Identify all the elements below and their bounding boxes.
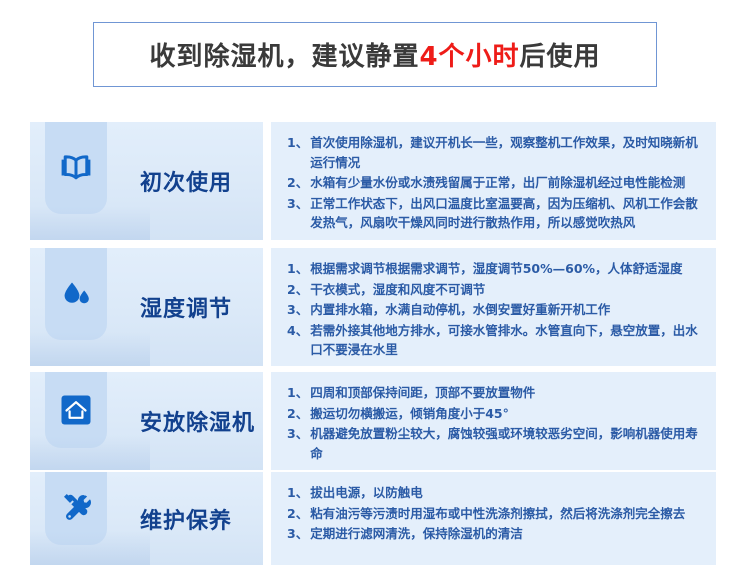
list-item-number: 3、 bbox=[287, 300, 308, 320]
card-gap bbox=[263, 472, 271, 565]
section-title: 维护保养 bbox=[140, 503, 232, 535]
list-item: 1、 拔出电源，以防触电 bbox=[287, 483, 704, 503]
list-item-number: 1、 bbox=[287, 133, 308, 153]
section-body-card: 1、 根据需求调节根据需求调节，湿度调节50%—60%，人体舒适湿度 2、 干衣… bbox=[271, 248, 716, 366]
list-item-number: 2、 bbox=[287, 173, 308, 193]
list-item-number: 1、 bbox=[287, 483, 308, 503]
list-item: 2、 搬运切勿横搬运，倾销角度小于45° bbox=[287, 404, 704, 424]
list-item-text: 四周和顶部保持间距，顶部不要放置物件 bbox=[310, 383, 704, 403]
icon-badge bbox=[45, 372, 107, 448]
list-item-text: 若需外接其他地方排水，可接水管排水。水管直向下，悬空放置，出水口不要浸在水里 bbox=[310, 321, 704, 360]
header-text-after: 后使用 bbox=[520, 42, 601, 72]
header-banner: 收到除湿机，建议静置4个小时后使用 bbox=[93, 22, 657, 87]
list-item-number: 2、 bbox=[287, 504, 308, 524]
list-item: 3、 机器避免放置粉尘较大，腐蚀较强或环境较恶劣空间，影响机器使用寿命 bbox=[287, 424, 704, 463]
list-item-number: 1、 bbox=[287, 259, 308, 279]
section-row-first-use: 初次使用 1、 首次使用除湿机，建议开机长一些，观察整机工作效果，及时知晓新机运… bbox=[30, 122, 716, 240]
list-item: 3、 定期进行滤网清洗，保持除湿机的清洁 bbox=[287, 524, 704, 544]
list-item: 2、 粘有油污等污渍时用湿布或中性洗涤剂擦拭，然后将洗涤剂完全擦去 bbox=[287, 504, 704, 524]
section-body-card: 1、 拔出电源，以防触电 2、 粘有油污等污渍时用湿布或中性洗涤剂擦拭，然后将洗… bbox=[271, 472, 716, 565]
icon-badge bbox=[45, 472, 107, 545]
house-square-icon bbox=[59, 394, 93, 426]
page-title: 收到除湿机，建议静置4个小时后使用 bbox=[149, 36, 600, 73]
card-gap bbox=[263, 248, 271, 366]
list-item: 1、 首次使用除湿机，建议开机长一些，观察整机工作效果，及时知晓新机运行情况 bbox=[287, 133, 704, 172]
list-item-text: 拔出电源，以防触电 bbox=[310, 483, 704, 503]
section-title: 安放除湿机 bbox=[140, 405, 255, 437]
list-item-number: 4、 bbox=[287, 321, 308, 341]
list-item-number: 2、 bbox=[287, 404, 308, 424]
list-item-text: 水箱有少量水份或水渍残留属于正常，出厂前除湿机经过电性能检测 bbox=[310, 173, 704, 193]
list-item-number: 2、 bbox=[287, 280, 308, 300]
list-item-number: 1、 bbox=[287, 383, 308, 403]
list-item-text: 粘有油污等污渍时用湿布或中性洗涤剂擦拭，然后将洗涤剂完全擦去 bbox=[310, 504, 704, 524]
list-item: 2、 干衣模式，湿度和风度不可调节 bbox=[287, 280, 704, 300]
section-title: 初次使用 bbox=[140, 165, 232, 197]
section-body-card: 1、 首次使用除湿机，建议开机长一些，观察整机工作效果，及时知晓新机运行情况 2… bbox=[271, 122, 716, 240]
list-item: 2、 水箱有少量水份或水渍残留属于正常，出厂前除湿机经过电性能检测 bbox=[287, 173, 704, 193]
infographic-page: 收到除湿机，建议静置4个小时后使用 初次使用 1、 首次使用除湿机，建议开机长一… bbox=[0, 0, 750, 585]
section-header-card: 安放除湿机 bbox=[30, 372, 263, 470]
section-body-card: 1、 四周和顶部保持间距，顶部不要放置物件 2、 搬运切勿横搬运，倾销角度小于4… bbox=[271, 372, 716, 470]
list-item-text: 内置排水箱，水满自动停机，水倒安置好重新开机工作 bbox=[310, 300, 704, 320]
icon-badge bbox=[45, 248, 107, 340]
list-item-text: 正常工作状态下，出风口温度比室温要高，因为压缩机、风机工作会散发热气，风扇吹干燥… bbox=[310, 194, 704, 233]
list-item: 3、 正常工作状态下，出风口温度比室温要高，因为压缩机、风机工作会散发热气，风扇… bbox=[287, 194, 704, 233]
list-item-text: 首次使用除湿机，建议开机长一些，观察整机工作效果，及时知晓新机运行情况 bbox=[310, 133, 704, 172]
list-item: 3、 内置排水箱，水满自动停机，水倒安置好重新开机工作 bbox=[287, 300, 704, 320]
section-header-card: 维护保养 bbox=[30, 472, 263, 565]
list-item-number: 3、 bbox=[287, 194, 308, 214]
section-row-humidity: 湿度调节 1、 根据需求调节根据需求调节，湿度调节50%—60%，人体舒适湿度 … bbox=[30, 248, 716, 366]
list-item-number: 3、 bbox=[287, 424, 308, 444]
header-accent-duration: 4个小时 bbox=[419, 42, 519, 72]
list-item-text: 定期进行滤网清洗，保持除湿机的清洁 bbox=[310, 524, 704, 544]
section-title: 湿度调节 bbox=[140, 291, 232, 323]
list-item: 4、 若需外接其他地方排水，可接水管排水。水管直向下，悬空放置，出水口不要浸在水… bbox=[287, 321, 704, 360]
list-item-text: 机器避免放置粉尘较大，腐蚀较强或环境较恶劣空间，影响机器使用寿命 bbox=[310, 424, 704, 463]
list-item-text: 搬运切勿横搬运，倾销角度小于45° bbox=[310, 404, 704, 424]
card-gap bbox=[263, 122, 271, 240]
section-row-placement: 安放除湿机 1、 四周和顶部保持间距，顶部不要放置物件 2、 搬运切勿横搬运，倾… bbox=[30, 372, 716, 470]
list-item: 1、 四周和顶部保持间距，顶部不要放置物件 bbox=[287, 383, 704, 403]
water-drops-icon bbox=[59, 279, 93, 309]
section-header-card: 湿度调节 bbox=[30, 248, 263, 366]
icon-badge bbox=[45, 122, 107, 214]
header-text-before: 收到除湿机，建议静置 bbox=[149, 42, 419, 72]
list-item: 1、 根据需求调节根据需求调节，湿度调节50%—60%，人体舒适湿度 bbox=[287, 259, 704, 279]
list-item-number: 3、 bbox=[287, 524, 308, 544]
open-book-icon bbox=[59, 153, 93, 183]
list-item-text: 干衣模式，湿度和风度不可调节 bbox=[310, 280, 704, 300]
section-header-card: 初次使用 bbox=[30, 122, 263, 240]
wrench-screwdriver-icon bbox=[59, 492, 93, 524]
list-item-text: 根据需求调节根据需求调节，湿度调节50%—60%，人体舒适湿度 bbox=[310, 259, 704, 279]
card-gap bbox=[263, 372, 271, 470]
section-row-maintenance: 维护保养 1、 拔出电源，以防触电 2、 粘有油污等污渍时用湿布或中性洗涤剂擦拭… bbox=[30, 472, 716, 565]
